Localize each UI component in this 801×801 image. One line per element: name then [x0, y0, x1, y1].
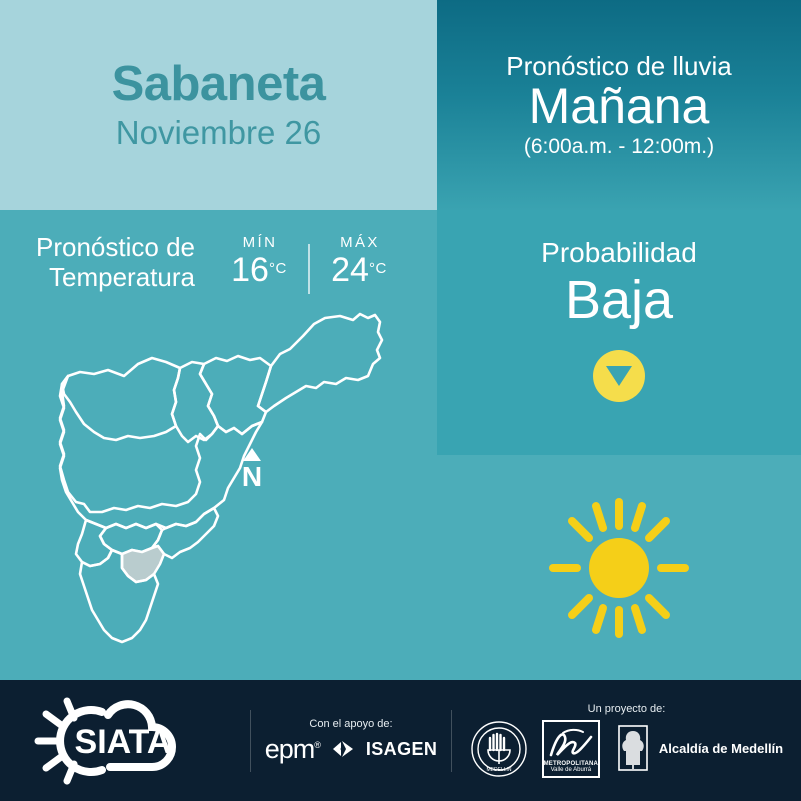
siata-wordmark: SIATA — [75, 723, 172, 761]
epm-logo: epm® — [265, 736, 320, 763]
temperature-min-unit: °C — [269, 260, 287, 277]
epm-registered-mark: ® — [314, 740, 320, 750]
temperature-max-value-group: 24°C — [331, 252, 387, 289]
unal-medellin-seal-logo: MEDELLIN — [470, 720, 528, 778]
rain-forecast-title: Pronóstico de lluvia — [506, 52, 731, 81]
epm-wordmark: epm — [265, 734, 315, 764]
temperature-max: MÁX 24°C — [317, 234, 401, 289]
temperature-min-value: 16 — [231, 251, 269, 289]
weather-icon-panel — [437, 455, 801, 680]
alcaldia-de-medellin-logo: Alcaldía de Medellín — [614, 723, 783, 775]
siata-logo: SIATA — [0, 695, 250, 787]
north-arrow-label: N — [242, 461, 262, 492]
temperature-max-caption: MÁX — [338, 234, 380, 252]
temperature-min: MÍN 16°C — [217, 234, 301, 289]
isagen-wordmark: ISAGEN — [366, 740, 437, 758]
temperature-label: Pronóstico de Temperatura — [36, 232, 195, 292]
temperature-max-unit: °C — [369, 260, 387, 277]
project-caption: Un proyecto de: — [588, 704, 666, 715]
project-section: Un proyecto de: MEDELLIN — [452, 704, 801, 778]
temperature-min-caption: MÍN — [241, 234, 278, 252]
weather-forecast-card: Sabaneta Noviembre 26 Pronóstico de lluv… — [0, 0, 801, 801]
city-name: Sabaneta — [112, 59, 326, 110]
rain-forecast-header-panel: Pronóstico de lluvia Mañana (6:00a.m. - … — [437, 0, 801, 210]
isagen-mark-icon — [332, 739, 354, 759]
area-metropolitana-logo: METROPOLITANA Valle de Aburrá — [542, 720, 600, 778]
rain-forecast-period: Mañana — [529, 79, 710, 133]
footer: SIATA Con el apoyo de: epm® ISAGEN — [0, 680, 801, 801]
valle-de-aburra-map: N — [28, 306, 408, 676]
unal-seal-text: MEDELLIN — [486, 767, 511, 773]
support-section: Con el apoyo de: epm® ISAGEN — [251, 719, 451, 763]
temperature-max-value: 24 — [331, 251, 369, 289]
area-metropolitana-line2: Valle de Aburrá — [551, 767, 592, 773]
sun-rays-icon — [38, 701, 74, 781]
probability-panel: Probabilidad Baja — [437, 210, 801, 455]
probability-value: Baja — [565, 271, 673, 330]
probability-title: Probabilidad — [541, 238, 697, 269]
rain-forecast-time-range: (6:00a.m. - 12:00m.) — [524, 135, 714, 158]
alcaldia-wordmark: Alcaldía de Medellín — [659, 742, 783, 755]
arrow-down-circle-icon — [593, 350, 645, 402]
area-script-icon — [547, 727, 595, 761]
temperature-divider — [308, 244, 310, 294]
support-caption: Con el apoyo de: — [309, 719, 392, 730]
isagen-logo: ISAGEN — [332, 739, 437, 759]
alcaldia-crest-icon — [614, 723, 652, 775]
temperature-min-value-group: 16°C — [231, 252, 287, 289]
temperature-readout: Pronóstico de Temperatura MÍN 16°C MÁX 2… — [0, 230, 437, 294]
temperature-panel: Pronóstico de Temperatura MÍN 16°C MÁX 2… — [0, 210, 437, 680]
city-panel: Sabaneta Noviembre 26 — [0, 0, 437, 210]
forecast-date: Noviembre 26 — [116, 116, 321, 151]
sun-icon — [539, 488, 699, 648]
map-municipality-outlines — [60, 314, 382, 642]
